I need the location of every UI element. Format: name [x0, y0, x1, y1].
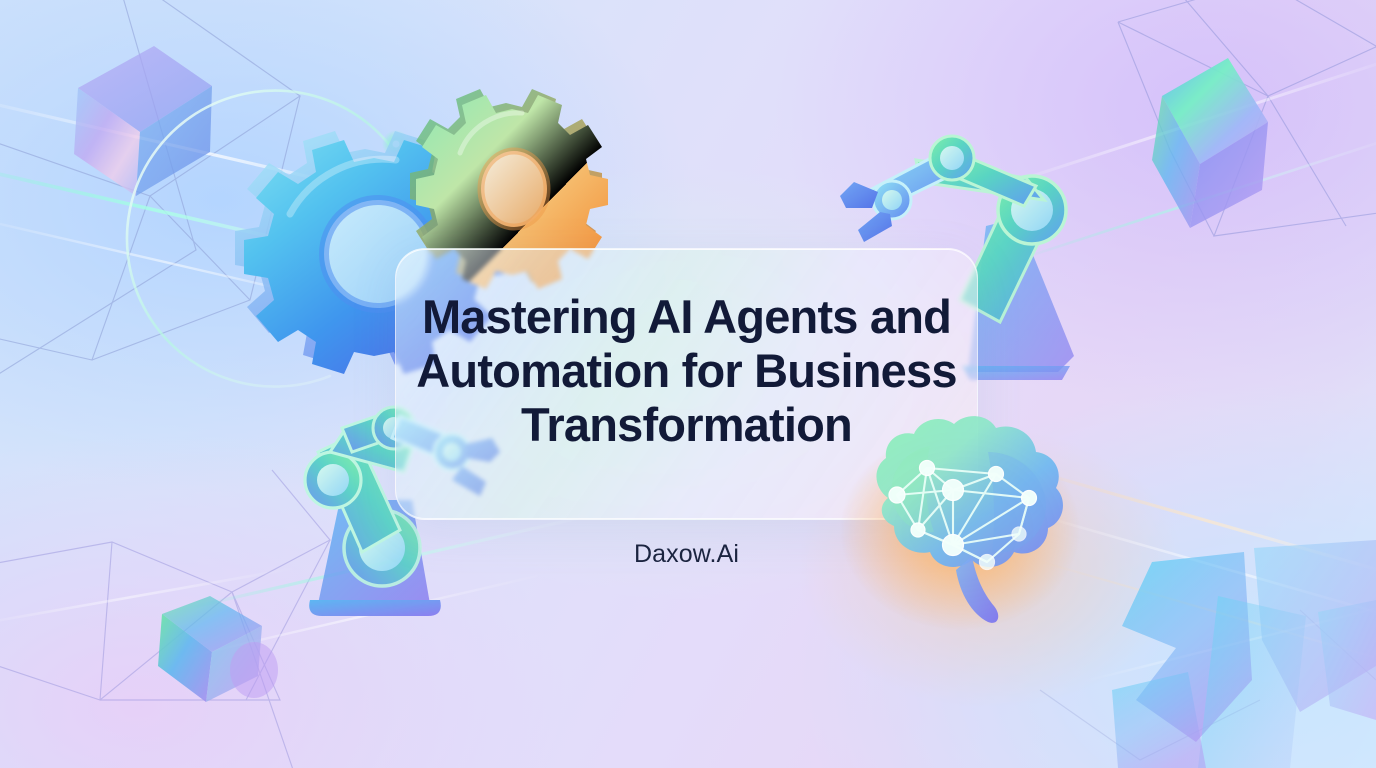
brand-name: Daxow.Ai [395, 538, 978, 570]
slide-canvas: Mastering AI Agents and Automation for B… [0, 0, 1376, 768]
page-title: Mastering AI Agents and Automation for B… [395, 290, 978, 452]
